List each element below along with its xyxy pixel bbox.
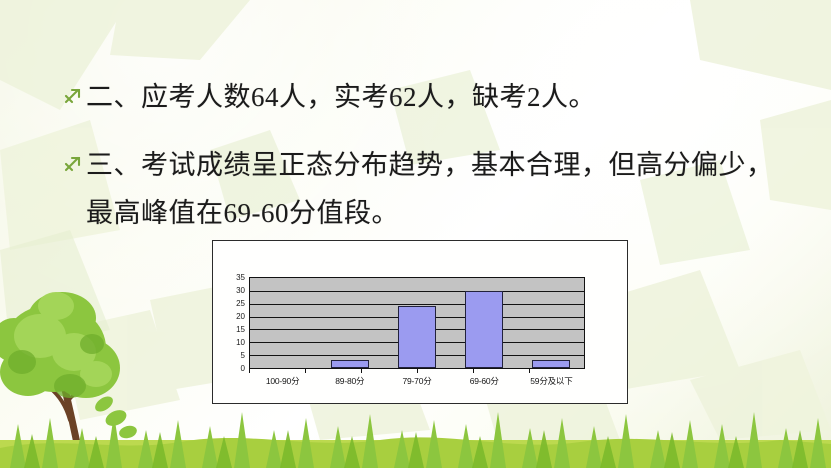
- slide-canvas: 二、应考人数64人，实考62人，缺考2人。 三、考试成绩呈正态分布趋势，基本合理…: [0, 0, 831, 468]
- x-axis-category-label: 59分及以下: [518, 375, 585, 389]
- bar-chart: 35302520151050 100-90分89-80分79-70分69-60分…: [212, 240, 628, 404]
- y-axis-tick-labels: 35302520151050: [217, 274, 245, 372]
- x-axis-tick: [249, 368, 305, 373]
- bullet-line-3-continuation: 最高峰值在69-60分值段。: [86, 198, 399, 228]
- x-axis-category-label: 89-80分: [316, 375, 383, 389]
- chart-bar: [532, 360, 570, 368]
- y-axis-tick: 35: [236, 274, 245, 281]
- chart-bar: [465, 291, 503, 368]
- chart-bar: [331, 360, 369, 368]
- tree-illustration: [0, 292, 138, 448]
- bullet-line-2-text: 三、考试成绩呈正态分布趋势，基本合理，但高分偏少，: [86, 150, 774, 180]
- y-axis-tick: 0: [241, 365, 245, 372]
- x-axis-tick: [529, 368, 585, 373]
- bullet-line-3-text: 最高峰值在69-60分值段。: [86, 198, 399, 228]
- up-right-arrow-bullet-icon: [62, 85, 84, 115]
- bullet-line-1: 二、应考人数64人，实考62人，缺考2人。: [62, 82, 596, 112]
- y-axis-tick: 30: [236, 287, 245, 294]
- x-axis-tick-marks: [249, 368, 585, 373]
- y-axis-tick: 10: [236, 339, 245, 346]
- chart-bar-cell: [384, 278, 451, 368]
- x-axis-category-label: 79-70分: [383, 375, 450, 389]
- y-axis-tick: 25: [236, 300, 245, 307]
- x-axis-category-label: 69-60分: [451, 375, 518, 389]
- chart-bar-cell: [317, 278, 384, 368]
- chart-bars: [250, 278, 584, 368]
- y-axis-tick: 15: [236, 326, 245, 333]
- x-axis-category-label: 100-90分: [249, 375, 316, 389]
- chart-bar-cell: [250, 278, 317, 368]
- bullet-line-2: 三、考试成绩呈正态分布趋势，基本合理，但高分偏少，: [62, 150, 774, 180]
- x-axis-tick: [417, 368, 473, 373]
- x-axis-tick: [361, 368, 417, 373]
- x-axis-tick: [473, 368, 529, 373]
- y-axis-tick: 5: [241, 352, 245, 359]
- x-axis-category-labels: 100-90分89-80分79-70分69-60分59分及以下: [249, 375, 585, 389]
- x-axis-tick: [305, 368, 361, 373]
- chart-bar: [398, 306, 436, 368]
- up-right-arrow-bullet-icon: [62, 153, 84, 183]
- chart-bar-cell: [517, 278, 584, 368]
- chart-plot-area: [249, 277, 585, 369]
- y-axis-tick: 20: [236, 313, 245, 320]
- bullet-line-1-text: 二、应考人数64人，实考62人，缺考2人。: [86, 82, 596, 112]
- chart-bar-cell: [450, 278, 517, 368]
- chart-inner: 35302520151050 100-90分89-80分79-70分69-60分…: [213, 241, 627, 403]
